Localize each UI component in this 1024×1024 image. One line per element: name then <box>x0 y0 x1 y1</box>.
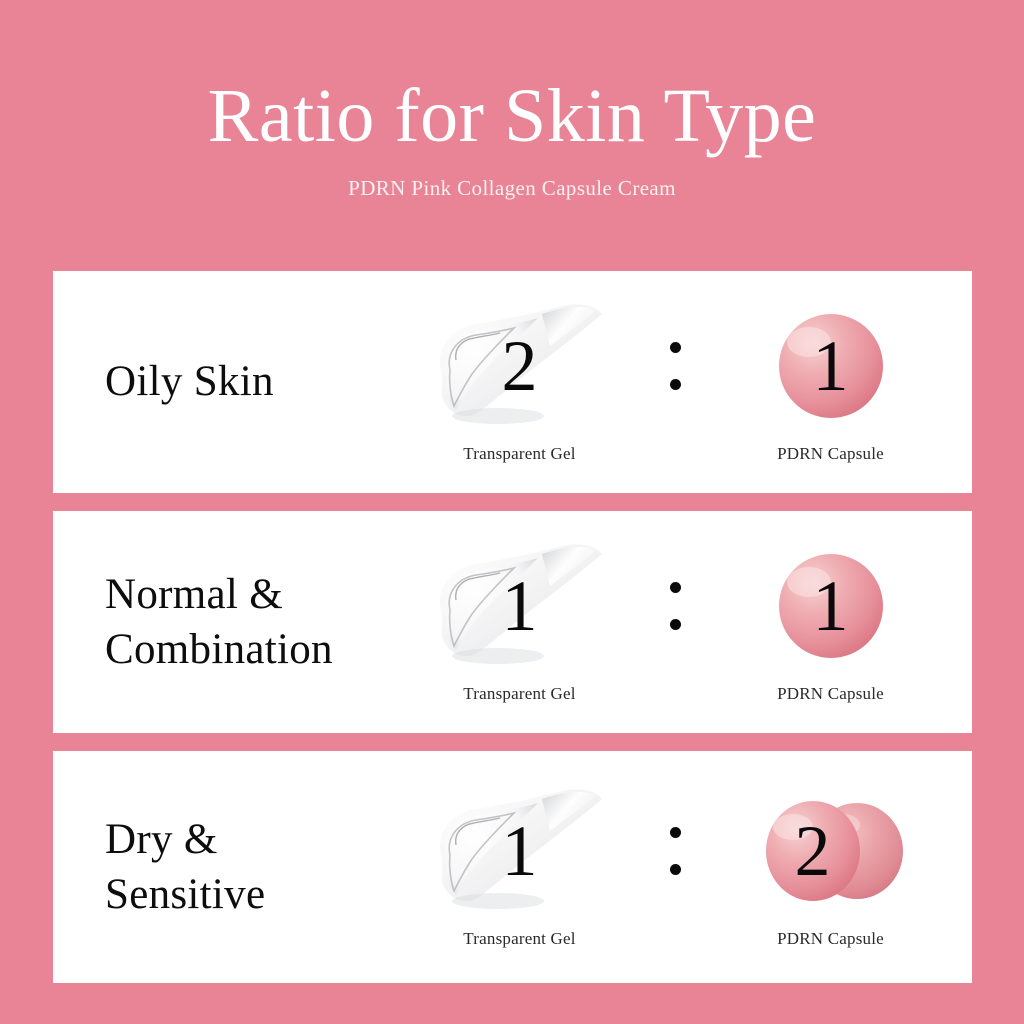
ratio-group: 2 Transparent Gel <box>413 300 972 464</box>
capsule-ratio-number: 1 <box>813 330 849 402</box>
page-subtitle: PDRN Pink Collagen Capsule Cream <box>0 154 1024 201</box>
gel-ratio-number: 2 <box>502 330 538 402</box>
ratio-separator <box>638 785 712 917</box>
skin-type-line-1: Oily Skin <box>105 358 274 405</box>
ratio-infographic-page: { "theme": { "background_pink": "#E88496… <box>0 0 1024 1024</box>
gel-ratio-item: 1 Transparent Gel <box>407 785 632 949</box>
ratio-row-oily-skin: Oily Skin <box>53 271 972 493</box>
capsule-ratio-item: 1 PDRN Capsule <box>718 300 943 464</box>
ratio-row-dry-sensitive: Dry & Sensitive <box>53 751 972 983</box>
skin-type-label: Dry & Sensitive <box>53 812 413 922</box>
gel-visual: 2 <box>420 300 620 432</box>
capsule-label: PDRN Capsule <box>777 684 884 704</box>
capsule-visual: 1 <box>731 540 931 672</box>
gel-ratio-number: 1 <box>502 815 538 887</box>
ratio-separator <box>638 540 712 672</box>
capsule-visual-double: 2 <box>731 785 931 917</box>
gel-ratio-number: 1 <box>502 570 538 642</box>
gel-label: Transparent Gel <box>463 684 575 704</box>
colon-dot-bottom <box>670 864 681 875</box>
skin-type-line-2: Sensitive <box>105 867 413 922</box>
skin-type-line-2: Combination <box>105 622 413 677</box>
gel-label: Transparent Gel <box>463 929 575 949</box>
capsule-ratio-item: 2 PDRN Capsule <box>718 785 943 949</box>
skin-type-line-1: Dry & <box>105 816 218 863</box>
pdrn-capsule-pair-icon <box>731 785 931 917</box>
ratio-separator <box>638 300 712 432</box>
ratio-group: 1 Transparent Gel <box>413 540 972 704</box>
ratio-row-normal-combination: Normal & Combination <box>53 511 972 733</box>
colon-dot-bottom <box>670 619 681 630</box>
page-header: Ratio for Skin Type PDRN Pink Collagen C… <box>0 0 1024 201</box>
skin-type-label: Normal & Combination <box>53 567 413 677</box>
capsule-visual: 1 <box>731 300 931 432</box>
capsule-ratio-number: 1 <box>813 570 849 642</box>
capsule-ratio-item: 1 PDRN Capsule <box>718 540 943 704</box>
ratio-group: 1 Transparent Gel <box>413 785 972 949</box>
capsule-label: PDRN Capsule <box>777 444 884 464</box>
gel-ratio-item: 2 Transparent Gel <box>407 300 632 464</box>
colon-dot-top <box>670 827 681 838</box>
gel-ratio-item: 1 Transparent Gel <box>407 540 632 704</box>
capsule-label: PDRN Capsule <box>777 929 884 949</box>
gel-label: Transparent Gel <box>463 444 575 464</box>
page-title: Ratio for Skin Type <box>0 78 1024 154</box>
colon-dot-top <box>670 342 681 353</box>
colon-dot-top <box>670 582 681 593</box>
ratio-card-list: Oily Skin <box>53 271 972 983</box>
skin-type-line-1: Normal & <box>105 571 283 618</box>
gel-visual: 1 <box>420 785 620 917</box>
skin-type-label: Oily Skin <box>53 354 413 409</box>
colon-dot-bottom <box>670 379 681 390</box>
capsule-ratio-number: 2 <box>795 815 831 887</box>
gel-visual: 1 <box>420 540 620 672</box>
